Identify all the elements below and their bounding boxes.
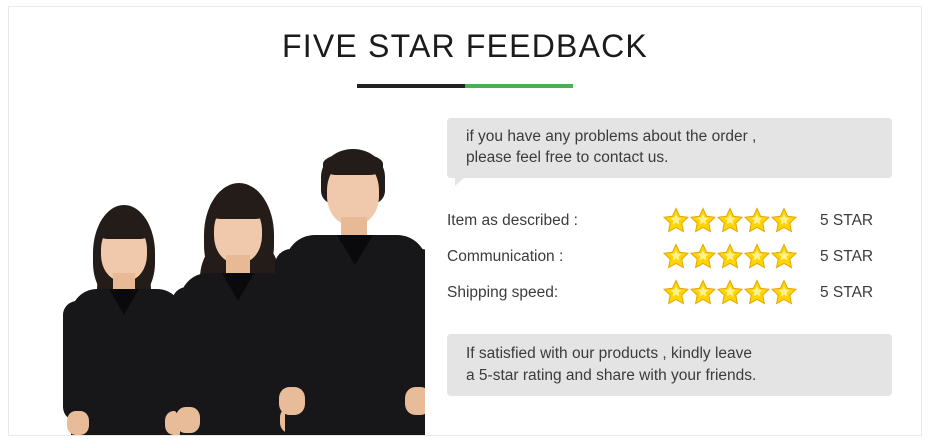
star-icon xyxy=(717,243,743,269)
support-message-bubble: if you have any problems about the order… xyxy=(447,118,892,178)
arm-left xyxy=(172,287,204,417)
hair-fringe xyxy=(210,195,266,219)
rating-row: Item as described : 5 STAR xyxy=(447,206,892,242)
star-icon xyxy=(717,207,743,233)
person-man-right xyxy=(271,149,425,435)
star-icon xyxy=(771,243,797,269)
rating-request-line-2: a 5-star rating and share with your frie… xyxy=(466,367,756,385)
models-photo xyxy=(25,115,425,435)
star-icon xyxy=(744,207,770,233)
rating-request-bubble: If satisfied with our products , kindly … xyxy=(447,334,892,396)
star-icon xyxy=(771,279,797,305)
hair-fringe xyxy=(99,217,149,239)
star-icon xyxy=(663,243,689,269)
rating-row: Communication : 5 STAR xyxy=(447,242,892,278)
star-icon xyxy=(744,243,770,269)
rating-value: 5 STAR xyxy=(820,248,873,266)
page-title-wrap: FIVE STAR FEEDBACK xyxy=(0,28,930,65)
rating-value: 5 STAR xyxy=(820,284,873,302)
rating-label: Shipping speed: xyxy=(447,284,558,302)
support-message-line-1: if you have any problems about the order… xyxy=(466,128,756,146)
star-icon xyxy=(663,207,689,233)
feedback-banner: FIVE STAR FEEDBACK xyxy=(0,0,930,442)
rating-stars xyxy=(663,242,803,272)
page-title: FIVE STAR FEEDBACK xyxy=(282,28,648,64)
rating-value: 5 STAR xyxy=(820,212,873,230)
support-bubble-tail xyxy=(455,170,473,186)
star-icon xyxy=(663,279,689,305)
title-underline-green xyxy=(465,84,573,88)
star-icon xyxy=(690,279,716,305)
rating-stars xyxy=(663,278,803,308)
hand-left xyxy=(176,407,200,433)
hand-left xyxy=(67,411,89,435)
title-underline-dark xyxy=(357,84,465,88)
hair-fringe xyxy=(323,153,383,175)
support-message-line-2: please feel free to contact us. xyxy=(466,149,668,167)
rating-label: Communication : xyxy=(447,248,563,266)
ratings-list: Item as described : 5 STAR Communication… xyxy=(447,206,892,314)
title-underline xyxy=(357,84,573,88)
star-icon xyxy=(690,243,716,269)
star-icon xyxy=(690,207,716,233)
hand-left xyxy=(279,387,305,415)
rating-stars xyxy=(663,206,803,236)
arm-right xyxy=(401,249,425,399)
star-icon xyxy=(744,279,770,305)
rating-row: Shipping speed: 5 STAR xyxy=(447,278,892,314)
rating-label: Item as described : xyxy=(447,212,578,230)
rating-request-line-1: If satisfied with our products , kindly … xyxy=(466,345,752,363)
arm-left xyxy=(275,249,311,399)
star-icon xyxy=(717,279,743,305)
arm-left xyxy=(63,301,93,421)
hand-right xyxy=(405,387,425,415)
star-icon xyxy=(771,207,797,233)
